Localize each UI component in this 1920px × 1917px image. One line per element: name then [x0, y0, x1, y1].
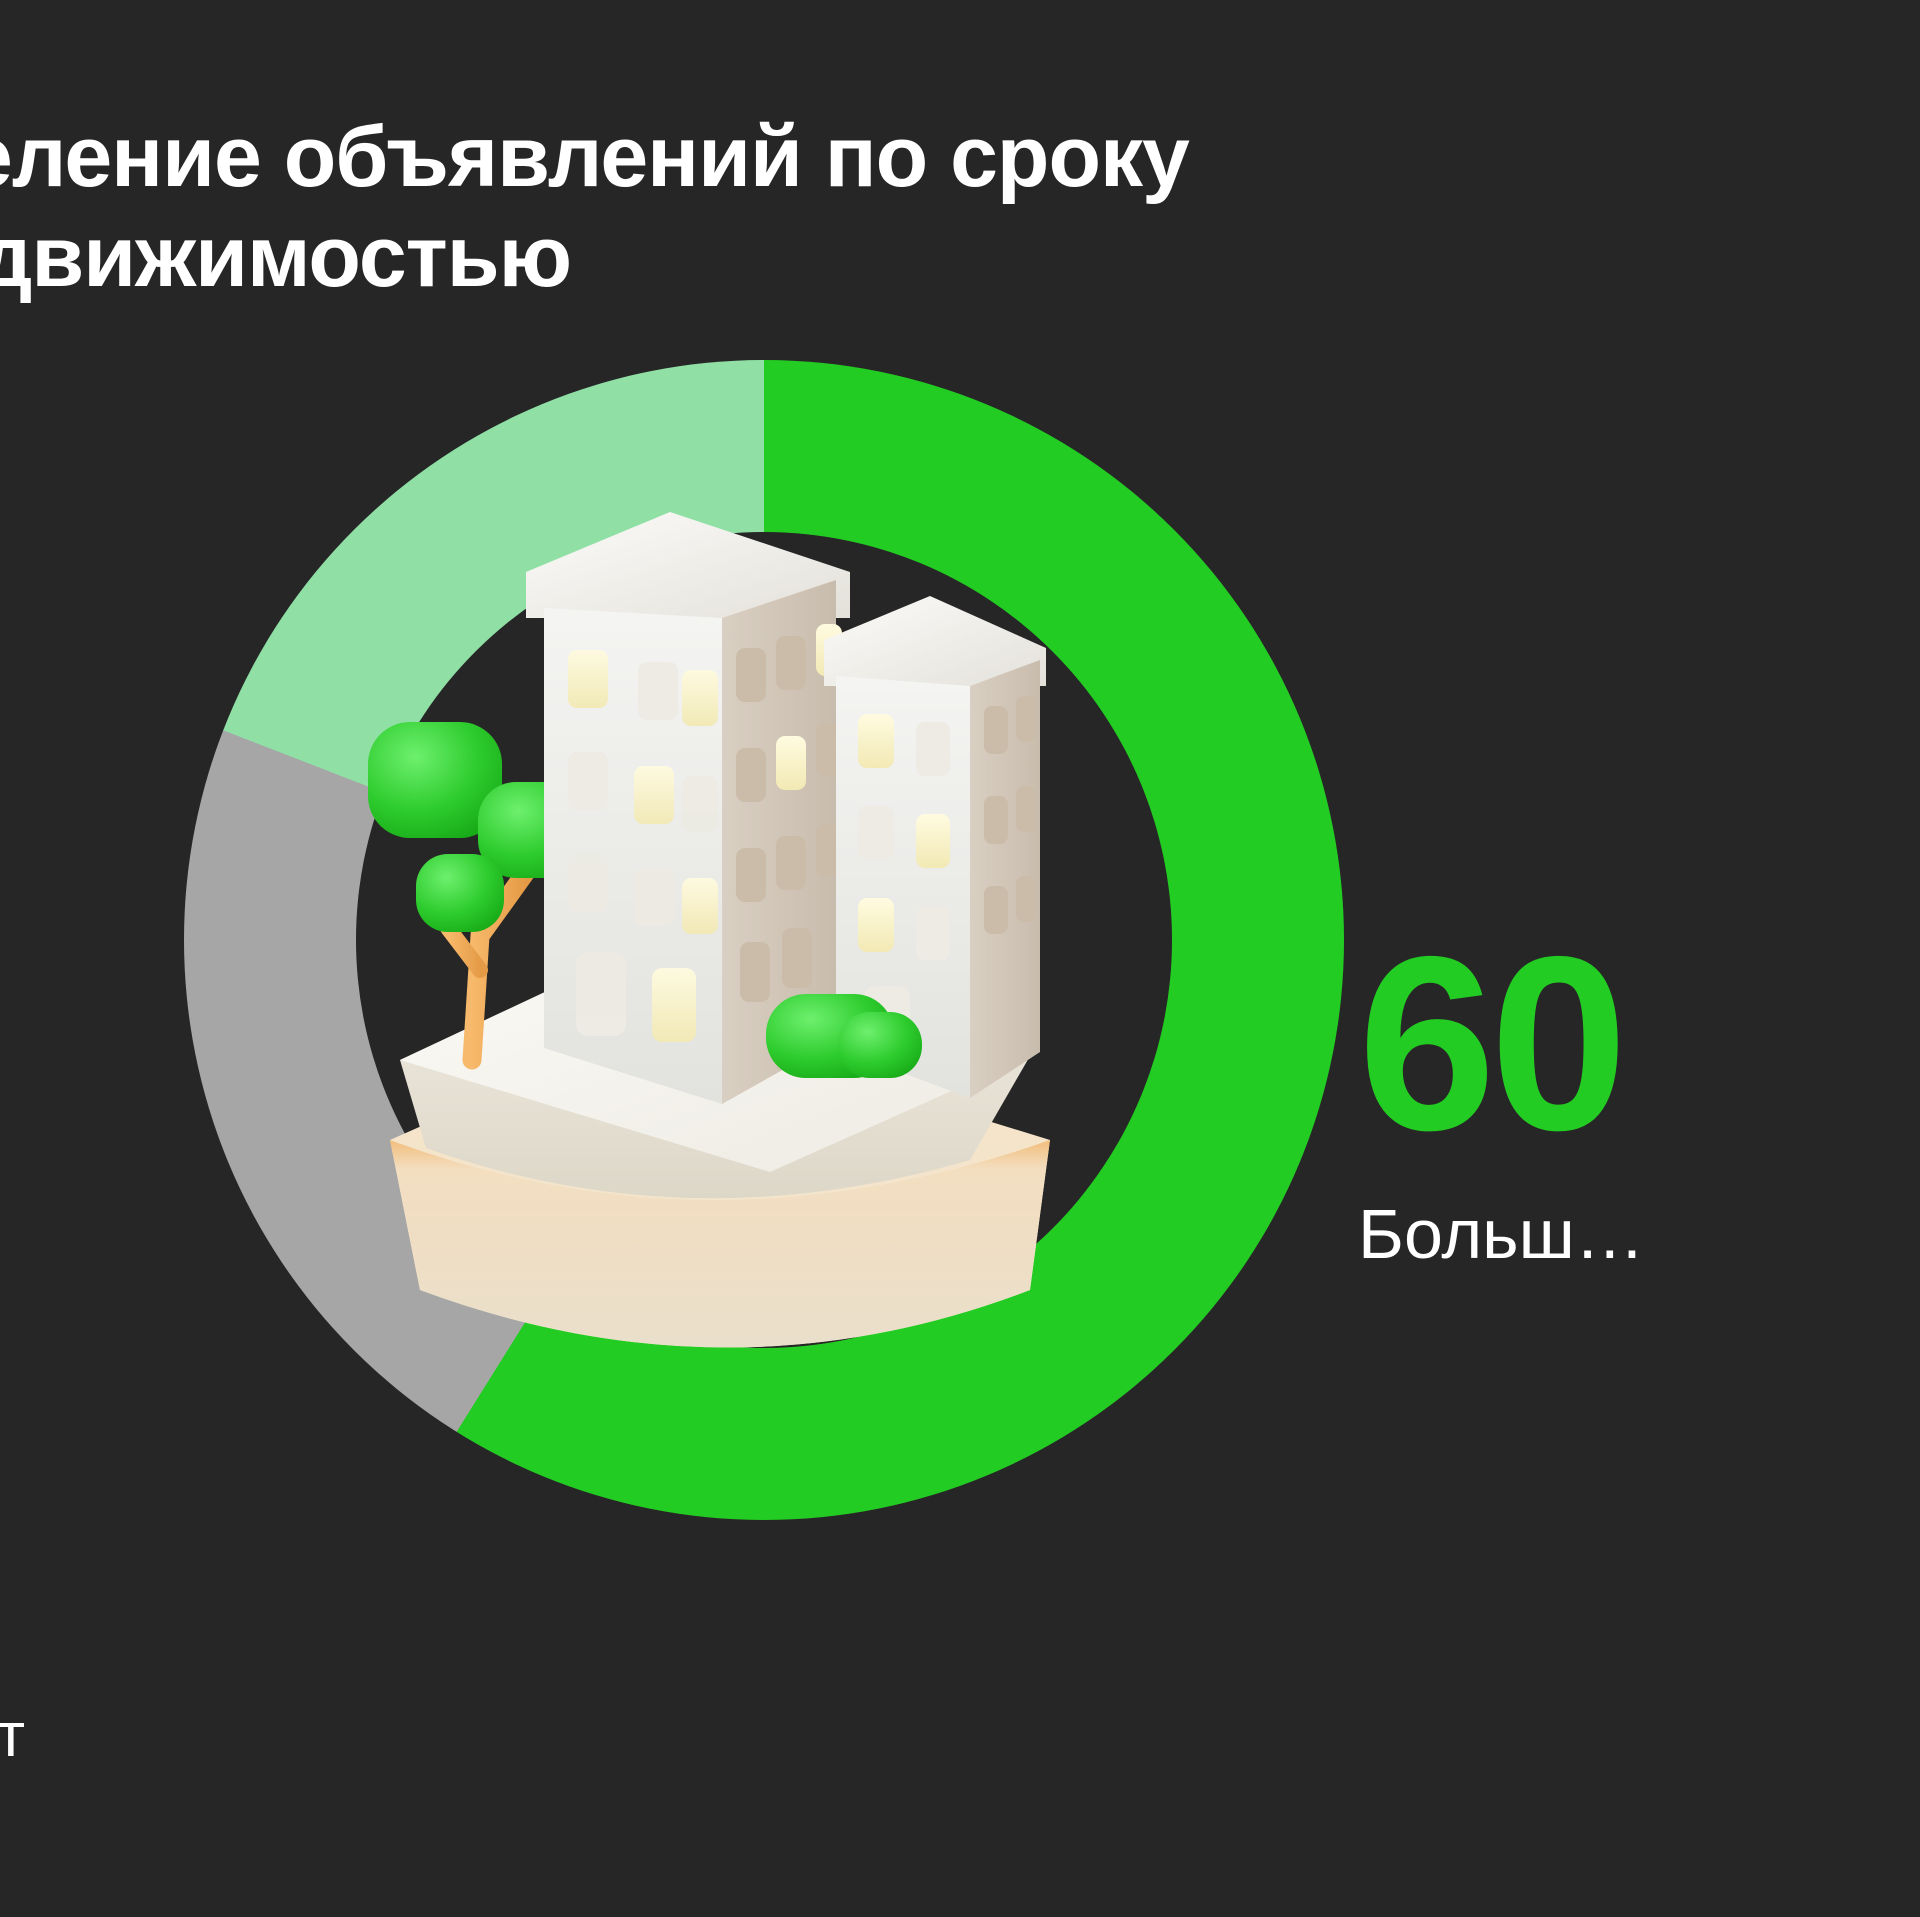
- callout-primary-value: 60: [1358, 926, 1920, 1162]
- donut-ring-wrapper: [184, 360, 1344, 1520]
- donut-center-hole: [356, 532, 1172, 1348]
- callout-primary-label: Больш…: [1358, 1196, 1920, 1273]
- page-title: …еление объявлений по сроку недвижимость…: [0, 108, 1580, 308]
- callout-primary: 60 Больш…: [1358, 926, 1920, 1273]
- callout-secondary-label: …нет: [0, 1700, 288, 1771]
- donut-chart: 60 Больш… …нет: [0, 300, 1920, 1620]
- callout-secondary: …нет: [0, 1700, 288, 1771]
